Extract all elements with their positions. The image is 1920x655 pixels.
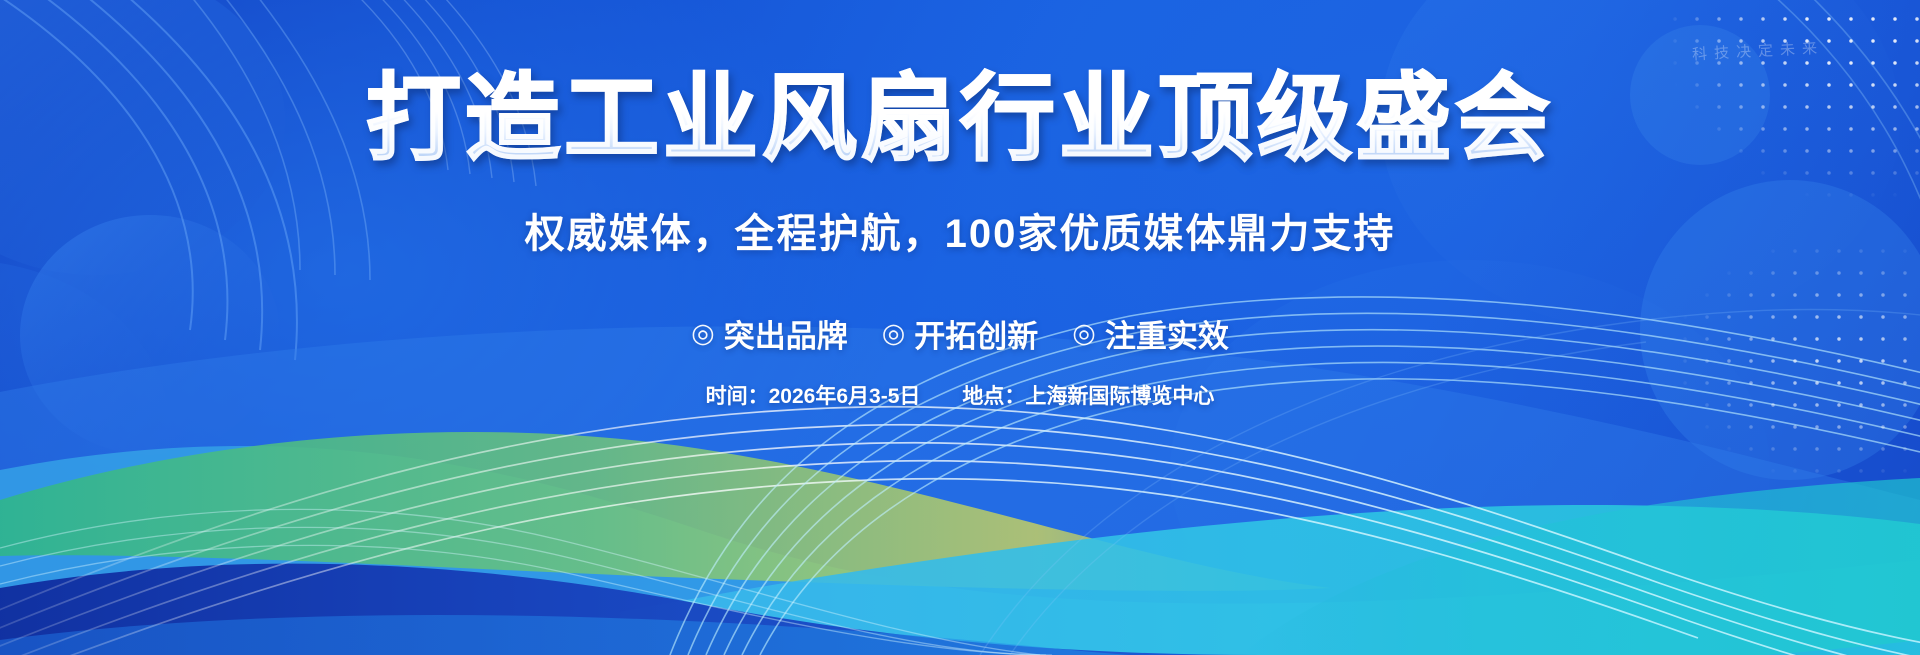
feature-list: ◎ 突出品牌 ◎ 开拓创新 ◎ 注重实效 <box>691 311 1229 356</box>
banner-subheadline: 权威媒体，全程护航，100家优质媒体鼎力支持 <box>525 201 1396 259</box>
event-date: 时间：2026年6月3-5日 <box>706 380 921 410</box>
double-circle-icon: ◎ <box>691 320 715 347</box>
event-venue: 地点：上海新国际博览中心 <box>962 380 1214 410</box>
feature-label: 注重实效 <box>1105 311 1229 356</box>
banner-content: 打造工业风扇行业顶级盛会 权威媒体，全程护航，100家优质媒体鼎力支持 ◎ 突出… <box>0 0 1920 655</box>
feature-item-innovation: ◎ 开拓创新 <box>882 311 1039 356</box>
feature-label: 开拓创新 <box>914 311 1038 356</box>
double-circle-icon: ◎ <box>1072 320 1096 347</box>
feature-label: 突出品牌 <box>724 311 848 356</box>
double-circle-icon: ◎ <box>882 320 906 347</box>
banner-headline: 打造工业风扇行业顶级盛会 <box>366 68 1554 171</box>
feature-item-effectiveness: ◎ 注重实效 <box>1072 311 1229 356</box>
feature-item-brand: ◎ 突出品牌 <box>691 311 848 356</box>
event-meta: 时间：2026年6月3-5日 地点：上海新国际博览中心 <box>706 380 1215 410</box>
event-banner: 科技决定未来 打造工业风扇行业顶级盛会 权威媒体，全程护航，100家优质媒体鼎力… <box>0 0 1920 655</box>
